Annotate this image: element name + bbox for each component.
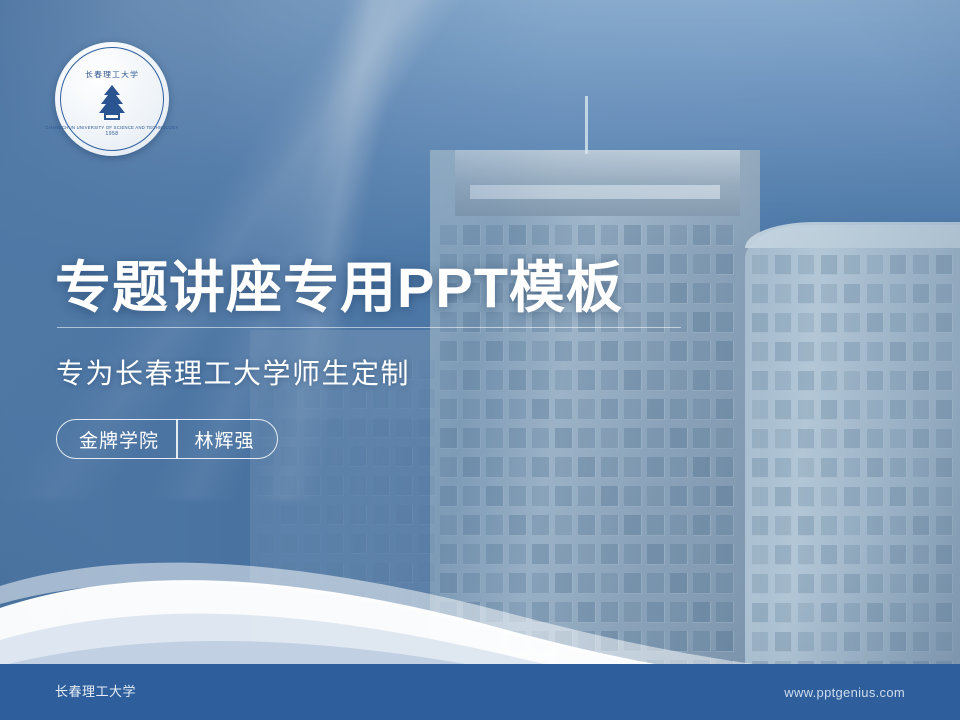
logo-name-cn: 长春理工大学	[85, 70, 139, 80]
logo-emblem-icon	[90, 83, 134, 123]
footer-university-name: 长春理工大学	[55, 681, 136, 700]
badge-right-label: 林辉强	[195, 426, 255, 453]
badge-left-label: 金牌学院	[79, 426, 159, 453]
logo-name-en: CHANGCHUN UNIVERSITY OF SCIENCE AND TECH…	[46, 125, 179, 130]
logo-content: 长春理工大学 CHANGCHUN UNIVERSITY OF SCIENCE A…	[55, 42, 169, 156]
logo-year: 1958	[105, 131, 118, 137]
university-logo: 长春理工大学 CHANGCHUN UNIVERSITY OF SCIENCE A…	[55, 42, 169, 156]
presentation-slide: 长春理工大学 CHANGCHUN UNIVERSITY OF SCIENCE A…	[0, 0, 960, 720]
slide-subtitle: 专为长春理工大学师生定制	[56, 352, 410, 392]
author-badge: 金牌学院 林辉强	[56, 419, 278, 459]
badge-divider	[176, 419, 178, 459]
slide-title: 专题讲座专用PPT模板	[55, 243, 623, 324]
title-divider	[57, 327, 681, 328]
footer-website[interactable]: www.pptgenius.com	[784, 685, 905, 700]
